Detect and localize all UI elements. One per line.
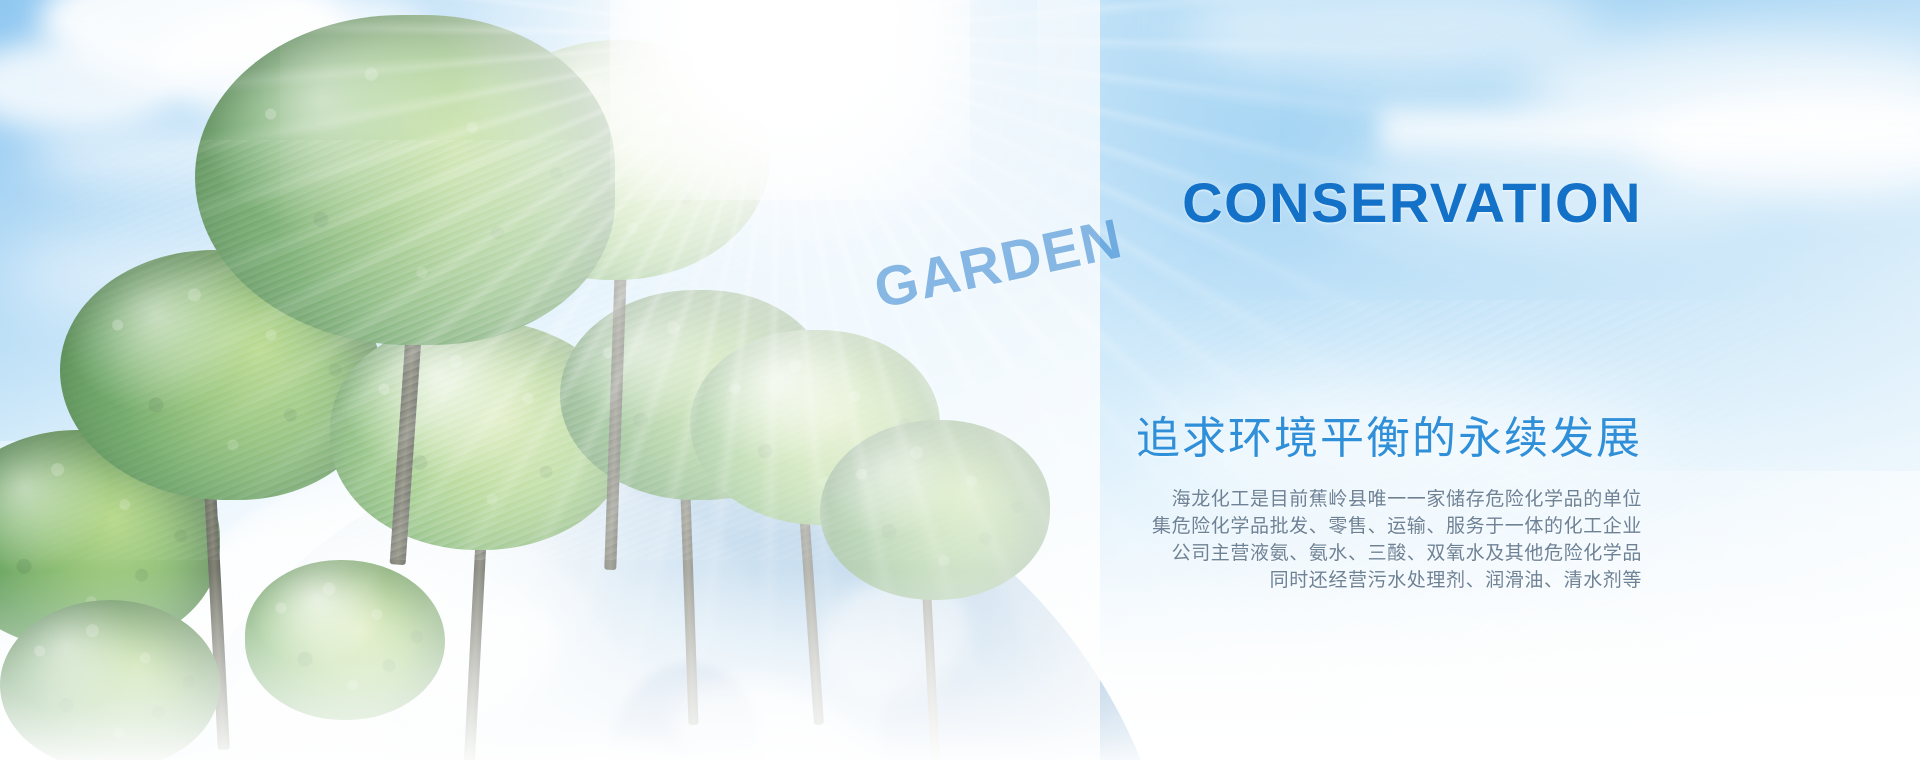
cloud-icon	[0, 230, 420, 320]
description-line-2: 集危险化学品批发、零售、运输、服务于一体的化工企业	[882, 513, 1642, 540]
headline-line-2: GARDEN	[868, 218, 1085, 404]
description-line-4: 同时还经营污水处理剂、润滑油、清水剂等	[882, 567, 1642, 594]
headline-line-1: CONSERVATION	[1182, 171, 1642, 234]
banner-headline: CONSERVATION GARDEN	[882, 170, 1642, 386]
description-line-1: 海龙化工是目前蕉岭县唯一一家储存危险化学品的单位	[882, 486, 1642, 513]
banner-subheadline: 追求环境平衡的永续发展	[882, 412, 1642, 466]
cloud-band	[1380, 96, 1920, 166]
description-line-3: 公司主营液氨、氨水、三酸、双氧水及其他危险化学品	[882, 540, 1642, 567]
cloud-icon	[30, 120, 290, 190]
banner-description: 海龙化工是目前蕉岭县唯一一家储存危险化学品的单位 集危险化学品批发、零售、运输、…	[882, 486, 1642, 594]
banner-copy: CONSERVATION GARDEN 追求环境平衡的永续发展 海龙化工是目前蕉…	[882, 170, 1642, 594]
hero-banner: CONSERVATION GARDEN 追求环境平衡的永续发展 海龙化工是目前蕉…	[0, 0, 1920, 760]
